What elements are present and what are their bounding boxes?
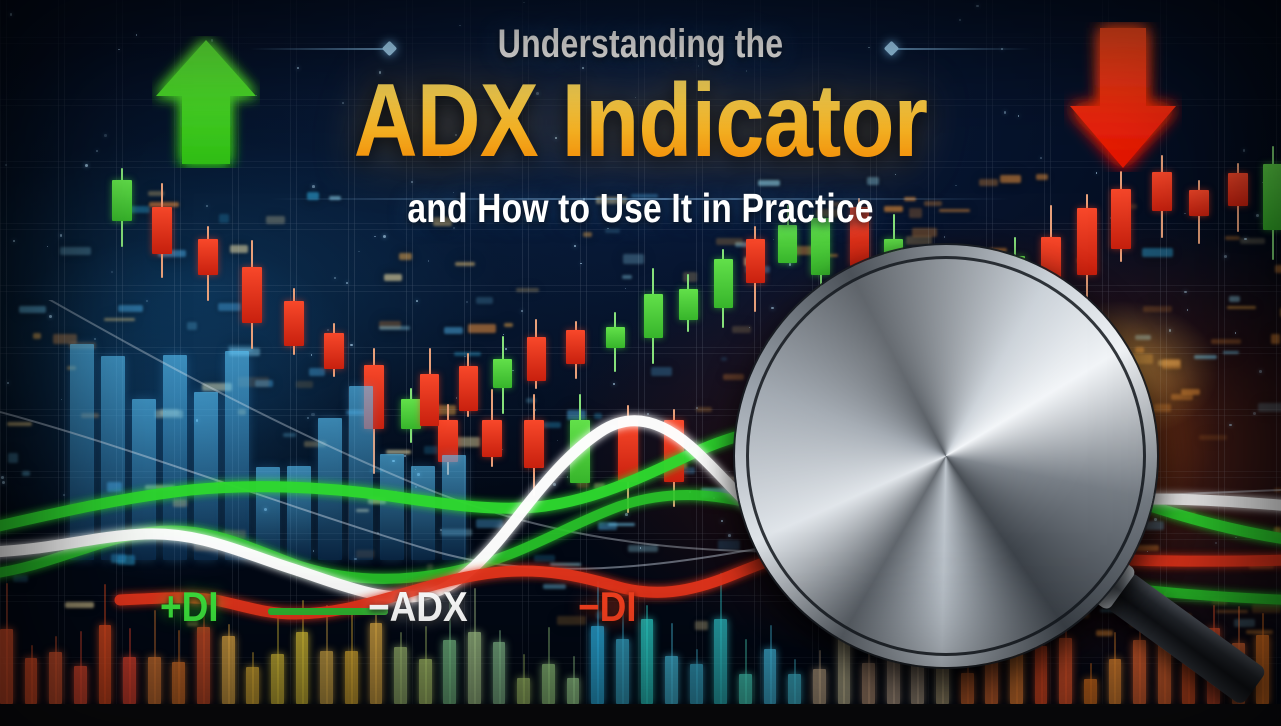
- bottom-volume-wick: [252, 652, 254, 704]
- legend-plus-di: +DI: [160, 586, 219, 628]
- arrow-down-icon: [1064, 22, 1182, 172]
- page-subtitle: and How to Use It in Practice: [115, 188, 1165, 229]
- infographic-canvas: Understanding the ADX Indicator and How …: [0, 0, 1281, 726]
- legend-adx: −ADX: [368, 586, 468, 628]
- page-kicker: Understanding the: [128, 24, 1153, 64]
- bottom-volume-wick: [794, 659, 796, 704]
- bottom-volume-wick: [1090, 663, 1092, 704]
- arrow-up-icon: [152, 36, 260, 168]
- chart-legend: +DI −ADX −DI: [0, 586, 1281, 642]
- bottom-volume-wick: [573, 656, 575, 704]
- legend-minus-di: −DI: [578, 586, 637, 628]
- bottom-volume-wick: [523, 654, 525, 704]
- bottom-band: [0, 704, 1281, 726]
